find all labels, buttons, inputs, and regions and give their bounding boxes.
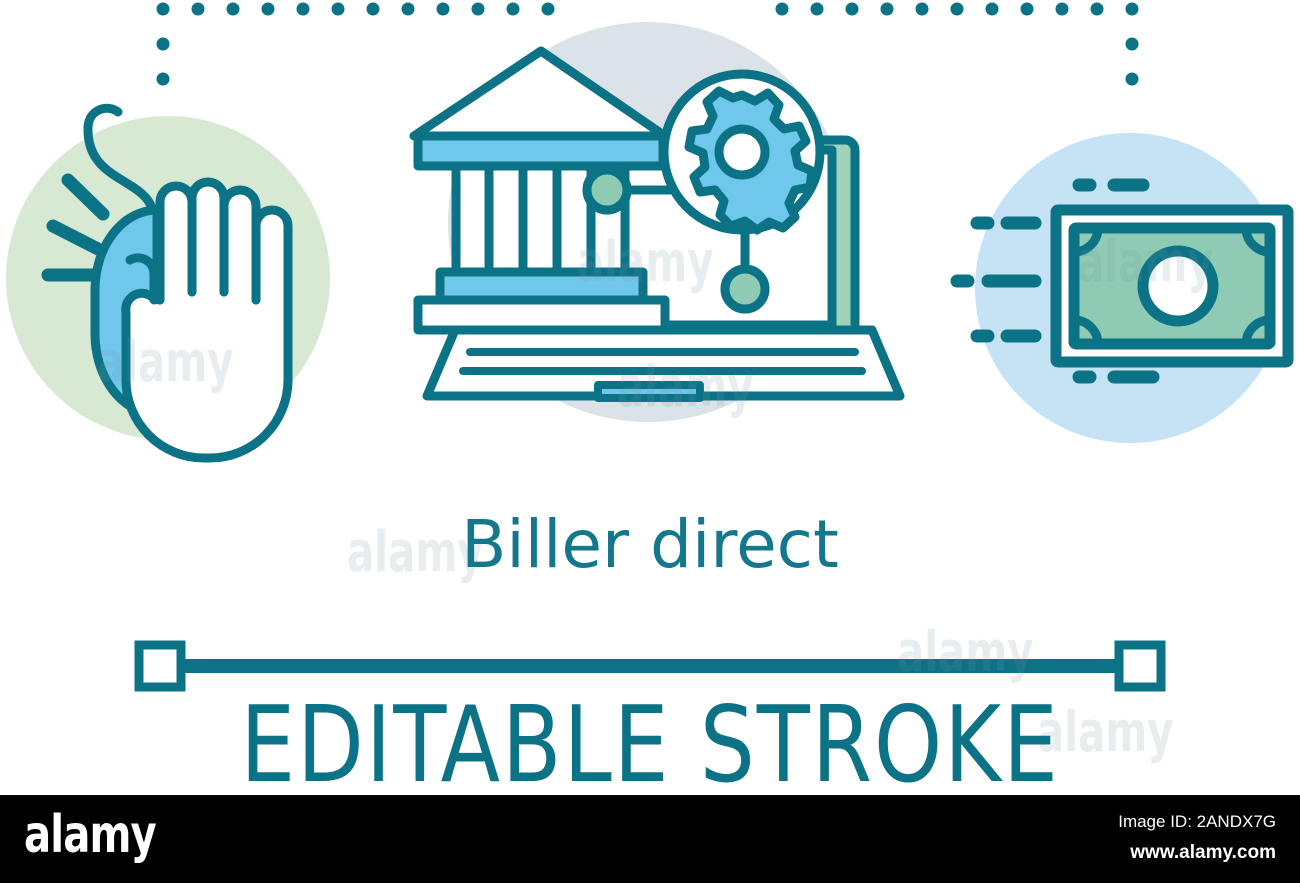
hand-clicking-mouse-icon [6, 108, 330, 458]
alamy-url[interactable]: www.alamy.com [1118, 839, 1276, 868]
money-banknote-icon [957, 133, 1288, 443]
alamy-footer-bar: alamy Image ID: 2ANDX7G www.alamy.com [0, 795, 1300, 883]
gear-badge [664, 74, 820, 230]
illustration-artboard: alamy alamy alamy alamy alamy alamy alam… [0, 0, 1300, 795]
dotted-frame-top-right-run [776, 3, 1139, 16]
alamy-logo: alamy [24, 809, 156, 861]
bank-base-step [418, 300, 665, 330]
image-id-label: Image ID: 2ANDX7G [1118, 809, 1276, 835]
footer-meta: Image ID: 2ANDX7G www.alamy.com [1118, 809, 1276, 867]
anchor-square-left [139, 645, 181, 687]
gear-hub [719, 129, 765, 175]
anchor-square-right [1119, 645, 1161, 687]
dotted-frame-right-run [1126, 38, 1139, 86]
screenshot-root: alamy alamy alamy alamy alamy alamy alam… [0, 0, 1300, 883]
laptop-trackpad [598, 385, 700, 398]
concept-title: Biller direct [0, 512, 1300, 578]
editable-stroke-path [139, 645, 1161, 687]
editable-stroke-caption: EDITABLE STROKE [52, 693, 1248, 795]
dotted-frame-top-left-run [157, 3, 555, 16]
concept-illustration-svg [0, 0, 1300, 795]
dotted-frame-left-run [157, 38, 170, 86]
banknote-portrait-medallion [1143, 251, 1213, 321]
bank-laptop-settings-icon [414, 22, 900, 422]
